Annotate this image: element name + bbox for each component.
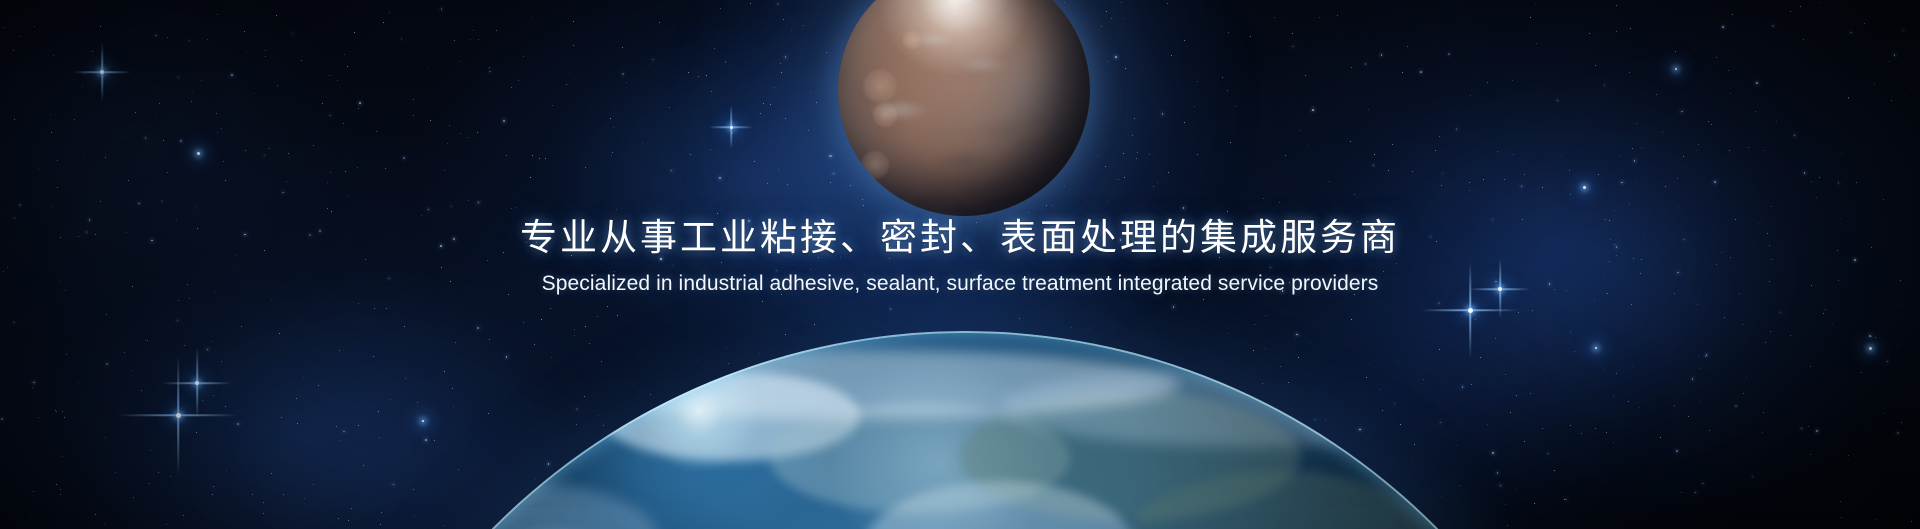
upper-planet-terrain [838,0,1090,216]
banner-headline-chinese: 专业从事工业粘接、密封、表面处理的集成服务商 [0,216,1920,262]
nebula-wisp [110,300,630,529]
upper-planet-sphere [838,0,1090,216]
banner-copy: 专业从事工业粘接、密封、表面处理的集成服务商 Specialized in in… [0,216,1920,298]
banner-subtitle-english: Specialized in industrial adhesive, seal… [0,270,1920,297]
hero-banner: 专业从事工业粘接、密封、表面处理的集成服务商 Specialized in in… [0,0,1920,529]
upper-planet [838,0,1090,216]
